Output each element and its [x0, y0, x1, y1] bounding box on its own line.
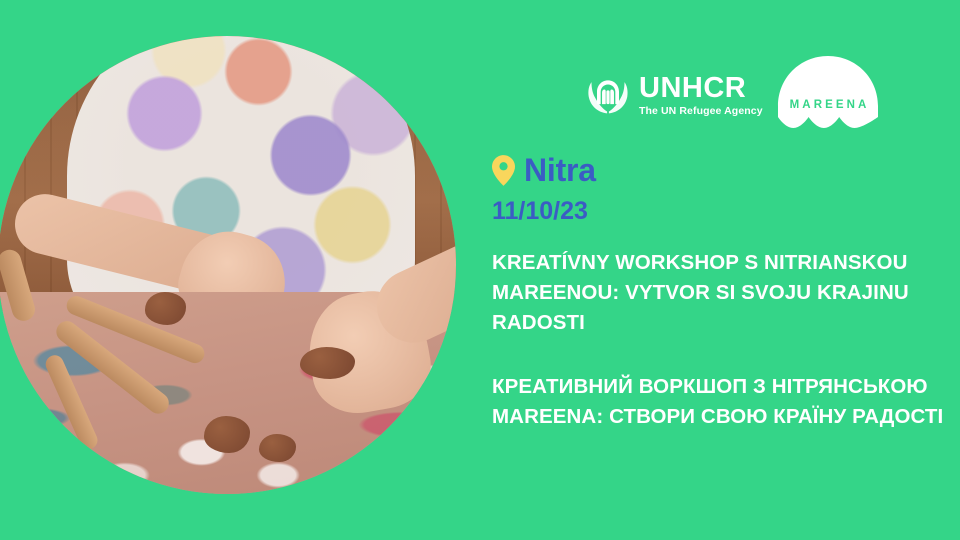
unhcr-name: UNHCR	[639, 74, 763, 103]
headline-ukrainian: КРЕАТИВНИЙ ВОРКШОП З НІТРЯНСЬКОЮ MAREENA…	[492, 372, 960, 432]
clay-piece-1	[145, 292, 186, 324]
unhcr-logo: UNHCR The UN Refugee Agency	[585, 73, 763, 117]
event-poster: UNHCR The UN Refugee Agency MAREENA Nitr…	[0, 0, 960, 540]
map-pin-icon	[492, 155, 515, 186]
logo-row: UNHCR The UN Refugee Agency MAREENA	[585, 55, 895, 143]
mareena-umbrella-icon	[775, 55, 881, 139]
city-row: Nitra	[492, 150, 952, 190]
photo-circle	[0, 36, 456, 494]
headline-slovak: KREATÍVNY WORKSHOP S NITRIANSKOU MAREENO…	[492, 248, 934, 338]
unhcr-tagline: The UN Refugee Agency	[639, 106, 763, 117]
photo-content	[0, 36, 456, 494]
event-info: Nitra 11/10/23 KREATÍVNY WORKSHOP S NITR…	[492, 150, 952, 432]
clay-piece-4	[259, 434, 296, 461]
mareena-logo: MAREENA	[775, 55, 881, 139]
city-name: Nitra	[524, 152, 596, 189]
clay-piece-3	[204, 416, 250, 453]
event-date: 11/10/23	[492, 197, 952, 226]
mareena-wordmark: MAREENA	[775, 99, 881, 111]
unhcr-emblem-icon	[585, 73, 631, 117]
unhcr-wordmark: UNHCR The UN Refugee Agency	[639, 74, 763, 117]
